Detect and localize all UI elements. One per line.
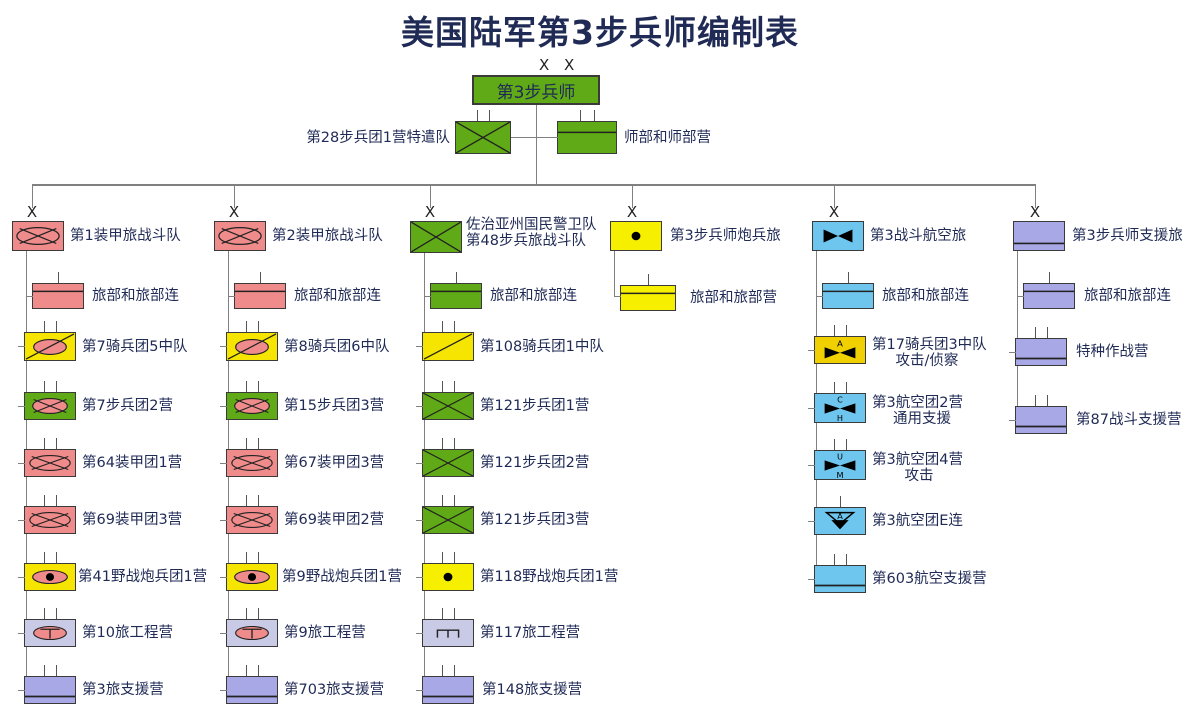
col1-u5-echelon-ticks xyxy=(24,495,76,506)
col3-u6-connector xyxy=(416,577,423,578)
col2-u8-symbol[interactable] xyxy=(226,676,278,704)
col3-u7-symbol[interactable] xyxy=(422,619,474,647)
col3-u3-echelon-ticks xyxy=(422,381,474,392)
page-title: 美国陆军第3步兵师编制表 xyxy=(0,6,1200,54)
col5-brigade-echelon-mark: X xyxy=(829,206,839,219)
col1-header-symbol[interactable] xyxy=(12,221,64,251)
col6-u2-connector xyxy=(1009,352,1016,353)
col3-header-label-line2: 第48步兵旅战斗队 xyxy=(466,233,586,249)
col2-u8-label: 第703旅支援营 xyxy=(284,682,384,698)
col6-u3-echelon-ticks xyxy=(1015,395,1067,406)
col1-u8-connector xyxy=(18,690,25,691)
col2-header-label: 第2装甲旅战斗队 xyxy=(272,228,383,244)
col6-spine xyxy=(1017,251,1018,423)
col2-u1-connector xyxy=(228,296,235,297)
col5-u5-symbol[interactable]: A xyxy=(814,507,866,535)
col3-u3-symbol[interactable] xyxy=(422,392,474,420)
col5-u2-connector xyxy=(808,350,815,351)
col5-u6-connector xyxy=(808,579,815,580)
col3-u5-symbol[interactable] xyxy=(422,506,474,534)
col5-u5-label: 第3航空团E连 xyxy=(872,513,963,529)
col3-u1-label: 旅部和旅部连 xyxy=(490,288,577,304)
col2-u6-connector xyxy=(220,577,227,578)
col3-u4-echelon-ticks xyxy=(422,438,474,449)
col2-u3-label: 第15步兵团3营 xyxy=(284,398,384,414)
col1-u7-label: 第10旅工程营 xyxy=(82,625,173,641)
col3-u8-label: 第148旅支援营 xyxy=(482,682,582,698)
col5-u4-connector xyxy=(808,465,815,466)
tf-28in-symbol[interactable] xyxy=(455,121,511,154)
col1-u4-connector xyxy=(18,463,25,464)
col5-u4-label-line1: 第3航空团4营 xyxy=(872,452,963,468)
col1-u4-symbol[interactable] xyxy=(24,449,76,477)
col2-u4-symbol[interactable] xyxy=(226,449,278,477)
col5-u5-echelon-ticks xyxy=(814,496,866,507)
tf-28in-echelon-ticks xyxy=(455,110,511,121)
col1-u6-echelon-ticks xyxy=(24,552,76,563)
col1-u8-echelon-ticks xyxy=(24,665,76,676)
col1-u2-label: 第7骑兵团5中队 xyxy=(82,339,187,355)
col1-u5-connector xyxy=(18,520,25,521)
col6-u2-symbol[interactable] xyxy=(1015,338,1067,366)
col2-brigade-echelon-mark: X xyxy=(229,206,239,219)
col5-u5-connector xyxy=(808,521,815,522)
col2-u6-echelon-ticks xyxy=(226,552,278,563)
tf-28in-label: 第28步兵团1营特遣队 xyxy=(290,130,450,146)
col2-u3-symbol[interactable] xyxy=(226,392,278,420)
col1-u2-connector xyxy=(18,346,25,347)
col5-u2-symbol[interactable]: A xyxy=(814,336,866,364)
col3-u1-echelon-ticks xyxy=(430,272,482,283)
col3-u5-echelon-ticks xyxy=(422,495,474,506)
col5-header-label: 第3战斗航空旅 xyxy=(870,228,966,244)
col6-u2-label: 特种作战营 xyxy=(1076,344,1149,360)
col3-u4-connector xyxy=(416,463,423,464)
svg-text:M: M xyxy=(836,471,843,479)
col1-u6-connector xyxy=(18,577,25,578)
org-chart-page: 美国陆军第3步兵师编制表 X X 第3步兵师 第28步兵团1营特遣队 师部和师部… xyxy=(0,0,1200,713)
col6-u1-connector xyxy=(1017,296,1024,297)
col3-u8-symbol[interactable] xyxy=(422,676,474,704)
col5-u3-echelon-ticks xyxy=(814,382,866,393)
col2-u7-echelon-ticks xyxy=(226,608,278,619)
col5-u6-label: 第603航空支援营 xyxy=(872,571,987,587)
col6-u1-label: 旅部和旅部连 xyxy=(1084,288,1171,304)
svg-text:U: U xyxy=(837,453,843,462)
col1-u3-connector xyxy=(18,406,25,407)
col2-u4-connector xyxy=(220,463,227,464)
col2-u1-label: 旅部和旅部连 xyxy=(294,288,381,304)
col2-u3-connector xyxy=(220,406,227,407)
division-stem xyxy=(536,105,537,185)
division-symbol[interactable]: 第3步兵师 xyxy=(472,75,600,105)
col4-u1-connector xyxy=(614,296,621,297)
col3-header-symbol[interactable] xyxy=(410,221,462,253)
col5-u1-symbol[interactable] xyxy=(822,283,874,309)
col5-header-symbol[interactable] xyxy=(812,221,864,251)
col3-u7-label: 第117旅工程营 xyxy=(480,625,580,641)
col1-u2-symbol[interactable] xyxy=(24,332,76,361)
col1-u6-symbol[interactable] xyxy=(24,563,76,591)
col5-u2-echelon-ticks xyxy=(814,325,866,336)
col2-u2-symbol[interactable] xyxy=(226,332,278,361)
col1-u5-label: 第69装甲团3营 xyxy=(82,512,182,528)
col1-u4-label: 第64装甲团1营 xyxy=(82,455,182,471)
col3-u7-echelon-ticks xyxy=(422,608,474,619)
col2-u7-symbol[interactable] xyxy=(226,619,278,647)
col2-u4-label: 第67装甲团3营 xyxy=(284,455,384,471)
col2-u6-label: 第9野战炮兵团1营 xyxy=(282,569,402,585)
division-echelon-mark: X X xyxy=(534,59,579,72)
svg-text:C: C xyxy=(837,396,843,405)
col5-u3-connector xyxy=(808,408,815,409)
col6-u3-connector xyxy=(1009,420,1016,421)
div-hhbn-label: 师部和师部营 xyxy=(624,130,711,146)
col1-u7-symbol[interactable] xyxy=(24,619,76,647)
col3-u1-connector xyxy=(424,296,431,297)
div-hhbn-connector xyxy=(536,137,558,138)
col4-spine xyxy=(614,251,615,296)
col6-u3-label: 第87战斗支援营 xyxy=(1076,412,1181,428)
col1-u1-echelon-ticks xyxy=(32,272,84,283)
col1-u3-symbol[interactable] xyxy=(24,392,76,420)
col2-u3-echelon-ticks xyxy=(226,381,278,392)
col5-u3-label-line2: 通用支援 xyxy=(872,411,972,427)
col5-u1-label: 旅部和旅部连 xyxy=(882,288,969,304)
col2-u5-echelon-ticks xyxy=(226,495,278,506)
col3-u6-label: 第118野战炮兵团1营 xyxy=(480,569,618,585)
col6-u2-echelon-ticks xyxy=(1015,327,1067,338)
col3-brigade-echelon-mark: X xyxy=(425,206,435,219)
col1-u6-label: 第41野战炮兵团1营 xyxy=(78,569,207,585)
col5-u6-echelon-ticks xyxy=(814,554,866,565)
col2-u8-echelon-ticks xyxy=(226,665,278,676)
col2-header-symbol[interactable] xyxy=(214,221,266,251)
col2-u5-connector xyxy=(220,520,227,521)
col3-u2-symbol[interactable] xyxy=(422,332,474,361)
col5-u3-symbol[interactable]: C H xyxy=(814,393,866,423)
col5-u4-echelon-ticks xyxy=(814,439,866,450)
col2-u2-echelon-ticks xyxy=(226,321,278,332)
col1-u5-symbol[interactable] xyxy=(24,506,76,534)
col3-u8-connector xyxy=(416,690,423,691)
col3-u2-echelon-ticks xyxy=(422,321,474,332)
col3-u6-echelon-ticks xyxy=(422,552,474,563)
col1-u3-echelon-ticks xyxy=(24,381,76,392)
col1-header-label: 第1装甲旅战斗队 xyxy=(70,228,181,244)
col1-u1-label: 旅部和旅部连 xyxy=(92,288,179,304)
col1-u8-label: 第3旅支援营 xyxy=(82,682,164,698)
col3-u5-connector xyxy=(416,520,423,521)
svg-text:A: A xyxy=(837,512,843,521)
col4-header-label: 第3步兵师炮兵旅 xyxy=(670,228,781,244)
col1-u1-connector xyxy=(26,296,33,297)
col1-u8-symbol[interactable] xyxy=(24,676,76,704)
tf-28in-connector xyxy=(511,137,537,138)
col4-u1-echelon-ticks xyxy=(620,274,676,285)
div-hhbn-echelon-ticks xyxy=(557,110,617,121)
col5-u4-symbol[interactable]: U M xyxy=(814,450,866,480)
col2-u1-echelon-ticks xyxy=(234,272,286,283)
col2-u4-echelon-ticks xyxy=(226,438,278,449)
col1-u3-label: 第7步兵团2营 xyxy=(82,398,173,414)
col1-u2-echelon-ticks xyxy=(24,321,76,332)
col2-u5-symbol[interactable] xyxy=(226,506,278,534)
col6-brigade-echelon-mark: X xyxy=(1030,206,1040,219)
col2-u5-label: 第69装甲团2营 xyxy=(284,512,384,528)
col2-u7-connector xyxy=(220,633,227,634)
svg-text:H: H xyxy=(837,414,843,422)
col2-u2-label: 第8骑兵团6中队 xyxy=(284,339,389,355)
col4-header-symbol[interactable] xyxy=(610,221,662,251)
col3-u5-label: 第121步兵团3营 xyxy=(480,512,589,528)
col6-u3-symbol[interactable] xyxy=(1015,406,1067,434)
col1-u4-echelon-ticks xyxy=(24,438,76,449)
col3-u7-connector xyxy=(416,633,423,634)
col4-u1-symbol[interactable] xyxy=(620,285,676,311)
col2-u7-label: 第9旅工程营 xyxy=(284,625,366,641)
col3-u8-echelon-ticks xyxy=(422,665,474,676)
col5-u2-label-line2: 攻击/侦察 xyxy=(872,353,982,369)
col5-u1-echelon-ticks xyxy=(822,272,874,283)
col3-u3-connector xyxy=(416,406,423,407)
col3-u4-symbol[interactable] xyxy=(422,449,474,477)
col2-u2-connector xyxy=(220,346,227,347)
col6-u1-symbol[interactable] xyxy=(1023,283,1075,309)
col6-header-symbol[interactable] xyxy=(1013,221,1065,251)
col1-brigade-echelon-mark: X xyxy=(27,206,37,219)
col3-u2-label: 第108骑兵团1中队 xyxy=(480,339,604,355)
col2-u6-symbol[interactable] xyxy=(226,563,278,591)
div-hhbn-symbol[interactable] xyxy=(557,121,617,154)
col3-u4-label: 第121步兵团2营 xyxy=(480,455,589,471)
col3-header-label-line1: 佐治亚州国民警卫队 xyxy=(466,217,597,233)
svg-text:A: A xyxy=(837,339,843,349)
col5-u6-symbol[interactable] xyxy=(814,565,866,593)
col2-u1-symbol[interactable] xyxy=(234,283,286,309)
col1-u7-echelon-ticks xyxy=(24,608,76,619)
col5-u1-connector xyxy=(816,296,823,297)
division-name: 第3步兵师 xyxy=(497,78,576,103)
col3-u1-symbol[interactable] xyxy=(430,283,482,309)
col6-header-label: 第3步兵师支援旅 xyxy=(1072,228,1183,244)
col3-u2-connector xyxy=(416,346,423,347)
col3-u3-label: 第121步兵团1营 xyxy=(480,398,589,414)
col4-u1-label: 旅部和旅部营 xyxy=(690,290,777,306)
col4-brigade-echelon-mark: X xyxy=(627,206,637,219)
col2-u8-connector xyxy=(220,690,227,691)
col3-u6-symbol[interactable] xyxy=(422,563,474,591)
col6-u1-echelon-ticks xyxy=(1023,272,1075,283)
main-bus xyxy=(32,184,1036,186)
col5-u3-label-line1: 第3航空团2营 xyxy=(872,395,963,411)
col1-u7-connector xyxy=(18,633,25,634)
col5-u4-label-line2: 攻击 xyxy=(872,468,966,484)
col1-u1-symbol[interactable] xyxy=(32,283,84,309)
col5-u2-label-line1: 第17骑兵团3中队 xyxy=(872,337,987,353)
